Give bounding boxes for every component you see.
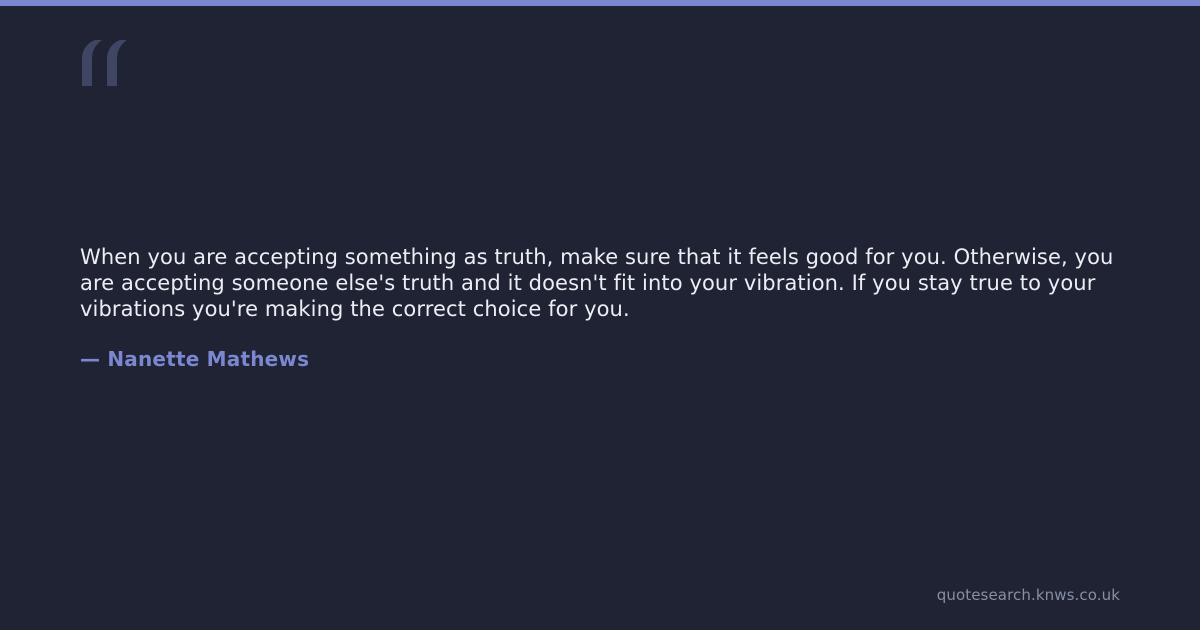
author-name: — Nanette Mathews [80, 347, 309, 371]
source-url: quotesearch.knws.co.uk [937, 586, 1120, 604]
double-open-quote-icon [80, 38, 136, 90]
author-attribution: — Nanette Mathews [80, 347, 309, 371]
quote-card: When you are accepting something as trut… [0, 6, 1200, 630]
footer: quotesearch.knws.co.uk [937, 585, 1120, 604]
quote-text: When you are accepting something as trut… [80, 244, 1120, 322]
quote-block: When you are accepting something as trut… [80, 244, 1120, 322]
